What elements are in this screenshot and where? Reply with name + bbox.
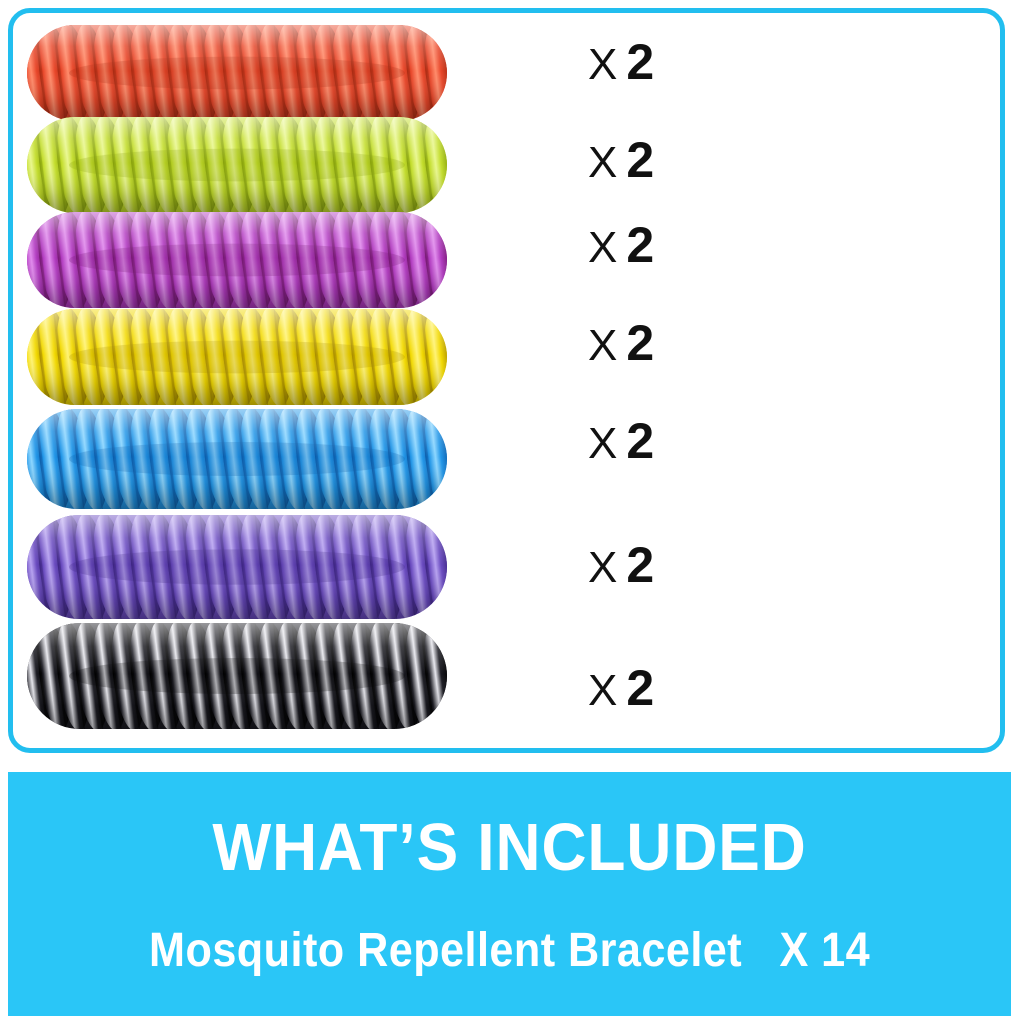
mosquito-repellent-bracelet-black: [27, 623, 447, 729]
quantity-label-sky-blue: X2: [588, 416, 654, 466]
quantity-multiplier-symbol: X: [588, 324, 617, 368]
quantity-value: 2: [626, 416, 654, 466]
quantity-value: 2: [626, 318, 654, 368]
quantity-value: 2: [626, 37, 654, 87]
coil-bracelet-icon: [27, 212, 447, 308]
quantity-multiplier-symbol: X: [588, 546, 617, 590]
banner-subline: Mosquito Repellent Bracelet X 14: [149, 927, 870, 975]
banner-title: WHAT’S INCLUDED: [212, 814, 806, 881]
quantity-multiplier-symbol: X: [588, 226, 617, 270]
quantity-multiplier-symbol: X: [588, 43, 617, 87]
infographic-stage: X2X2X2X2X2X2X2 WHAT’S INCLUDED Mosquito …: [0, 0, 1019, 1024]
mosquito-repellent-bracelet-blue: [27, 409, 447, 509]
quantity-multiplier-symbol: X: [588, 669, 617, 713]
mosquito-repellent-bracelet-green: [27, 117, 447, 213]
coil-bracelet-icon: [27, 623, 447, 729]
coil-bracelet-icon: [27, 409, 447, 509]
coil-bracelet-icon: [27, 309, 447, 405]
mosquito-repellent-bracelet-orange: [27, 25, 447, 121]
quantity-label-column: X2X2X2X2X2X2X2: [468, 13, 1000, 748]
quantity-multiplier-symbol: X: [588, 422, 617, 466]
quantity-label-yellow: X2: [588, 318, 654, 368]
bracelet-image-column: [13, 13, 468, 748]
quantity-label-orange-red: X2: [588, 37, 654, 87]
quantity-value: 2: [626, 663, 654, 713]
coil-bracelet-icon: [27, 117, 447, 213]
quantity-label-magenta: X2: [588, 220, 654, 270]
mosquito-repellent-bracelet-yellow: [27, 309, 447, 405]
coil-bracelet-icon: [27, 515, 447, 619]
quantity-value: 2: [626, 540, 654, 590]
quantity-value: 2: [626, 220, 654, 270]
mosquito-repellent-bracelet-violet: [27, 515, 447, 619]
product-contents-panel: X2X2X2X2X2X2X2: [8, 8, 1005, 753]
whats-included-banner: WHAT’S INCLUDED Mosquito Repellent Brace…: [8, 772, 1011, 1016]
quantity-label-violet: X2: [588, 540, 654, 590]
quantity-label-lime-green: X2: [588, 135, 654, 185]
quantity-multiplier-symbol: X: [588, 141, 617, 185]
coil-bracelet-icon: [27, 25, 447, 121]
quantity-value: 2: [626, 135, 654, 185]
quantity-label-black: X2: [588, 663, 654, 713]
mosquito-repellent-bracelet-magenta: [27, 212, 447, 308]
